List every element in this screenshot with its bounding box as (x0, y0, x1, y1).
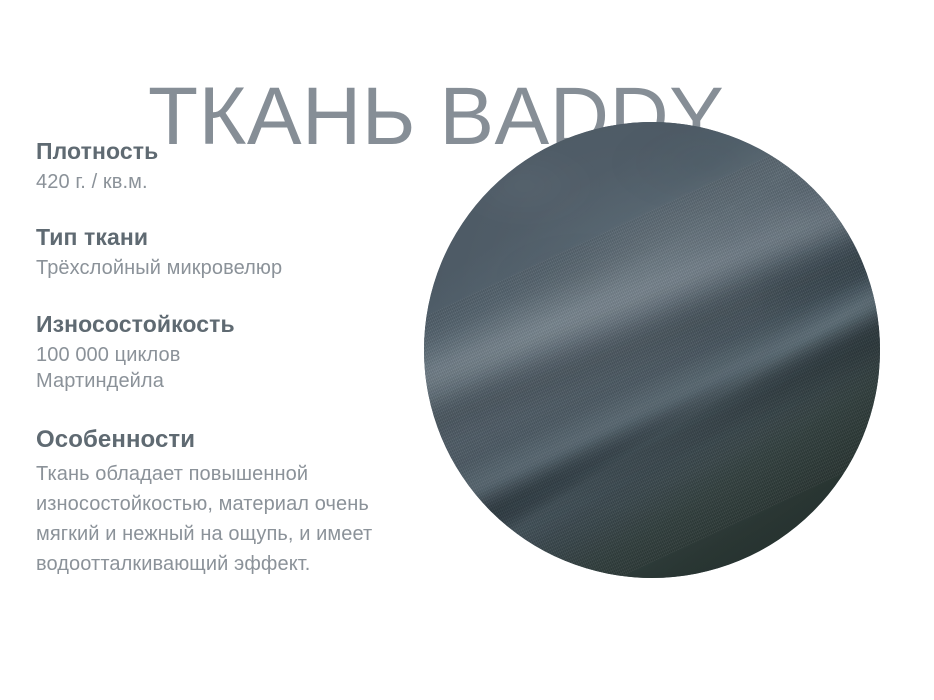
spec-item-features: Особенности Ткань обладает повышенной из… (36, 425, 396, 579)
spec-heading-density: Плотность (36, 137, 396, 166)
spec-item-density: Плотность 420 г. / кв.м. (36, 137, 396, 195)
spec-value-fabric-type: Трёхслойный микровелюр (36, 255, 396, 281)
spec-heading-fabric-type: Тип ткани (36, 223, 396, 252)
spec-item-fabric-type: Тип ткани Трёхслойный микровелюр (36, 223, 396, 281)
spec-value-wear-resistance: 100 000 циклов Мартиндейла (36, 342, 396, 394)
spec-value-density: 420 г. / кв.м. (36, 169, 396, 195)
spec-heading-wear-resistance: Износостойкость (36, 310, 396, 339)
spec-heading-features: Особенности (36, 425, 396, 454)
spec-value-features: Ткань обладает повышенной износостойкост… (36, 459, 381, 579)
fabric-swatch-photo (424, 122, 880, 578)
spec-item-wear-resistance: Износостойкость 100 000 циклов Мартиндей… (36, 310, 396, 394)
fabric-spec-slide: ТКАНЬ BADDY Плотность 420 г. / кв.м. Тип… (0, 0, 934, 700)
spec-list: Плотность 420 г. / кв.м. Тип ткани Трёхс… (36, 137, 396, 579)
